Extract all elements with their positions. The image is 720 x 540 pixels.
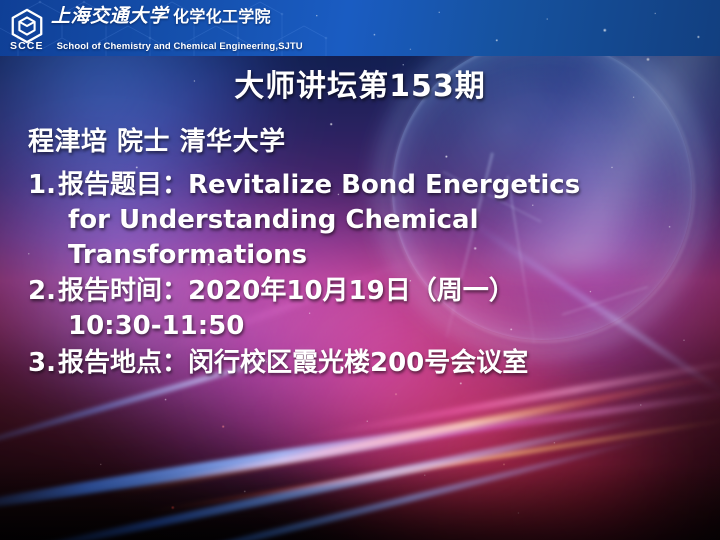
list-item-number: 2. — [28, 274, 58, 309]
list-item-number: 3. — [28, 346, 58, 381]
list-item-body: 报告题目：Revitalize Bond Energetics for Unde… — [58, 168, 700, 272]
poster-content: 大师讲坛第153期 程津培 院士 清华大学 1. 报告题目：Revitalize… — [0, 56, 720, 540]
logo-university-name: 上海交通大学 — [51, 7, 168, 27]
list-item: 3. 报告地点：闵行校区霞光楼200号会议室 — [28, 346, 700, 381]
list-item-line: for Understanding Chemical — [58, 203, 700, 238]
lecture-poster: 上海交通大学 化学化工学院 SCCE School of Chemistry a… — [0, 0, 720, 540]
speaker-line: 程津培 院士 清华大学 — [28, 121, 286, 158]
list-item-line: 10:30-11:50 — [58, 309, 700, 344]
list-item: 1. 报告题目：Revitalize Bond Energetics for U… — [28, 168, 700, 272]
list-item-line: Transformations — [58, 238, 700, 273]
logo-school-name: 化学化工学院 — [173, 9, 271, 26]
logo-abbreviation: SCCE — [10, 40, 44, 52]
list-item: 2. 报告时间：2020年10月19日（周一） 10:30-11:50 — [28, 274, 700, 344]
list-item-line: 报告题目：Revitalize Bond Energetics — [58, 168, 700, 203]
list-item-number: 1. — [28, 168, 58, 203]
logo-english-name: School of Chemistry and Chemical Enginee… — [57, 41, 303, 52]
list-item-body: 报告地点：闵行校区霞光楼200号会议室 — [58, 346, 700, 381]
header-banner: 上海交通大学 化学化工学院 SCCE School of Chemistry a… — [0, 0, 720, 56]
page-title: 大师讲坛第153期 — [0, 61, 720, 105]
detail-list: 1. 报告题目：Revitalize Bond Energetics for U… — [28, 168, 700, 383]
list-item-line: 报告地点：闵行校区霞光楼200号会议室 — [58, 346, 700, 381]
list-item-line: 报告时间：2020年10月19日（周一） — [58, 274, 700, 309]
logo-abbreviation-row: SCCE School of Chemistry and Chemical En… — [10, 40, 303, 52]
list-item-body: 报告时间：2020年10月19日（周一） 10:30-11:50 — [58, 274, 700, 344]
